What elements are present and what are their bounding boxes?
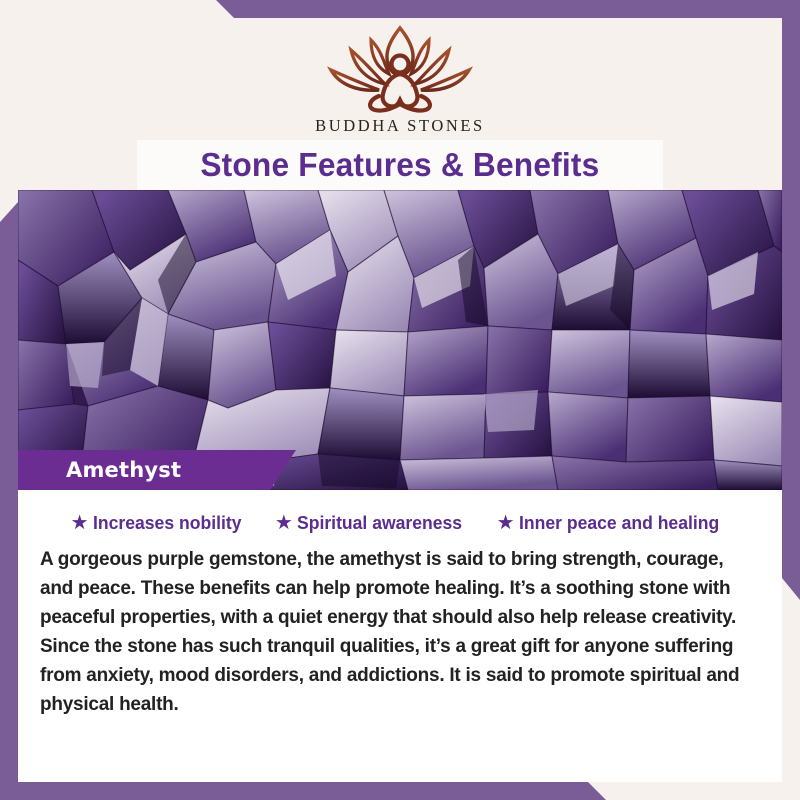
lotus-meditation-figure-icon (307, 22, 493, 114)
benefit-label: Spiritual awareness (297, 512, 462, 534)
page-title: Stone Features & Benefits (200, 146, 599, 184)
frame-right-accent (782, 0, 800, 600)
poster-content: ★ Increases nobility ★ Spiritual awarene… (18, 490, 782, 782)
amethyst-photo (18, 190, 782, 490)
benefit-label: Inner peace and healing (519, 512, 719, 534)
stone-name-banner: Amethyst (18, 450, 296, 490)
brand-logo: BUDDHA STONES (0, 22, 800, 136)
star-icon: ★ (497, 513, 515, 533)
amethyst-crystal-cluster-illustration (18, 190, 782, 490)
benefit-item: ★ Inner peace and healing (497, 512, 730, 534)
benefit-label: Increases nobility (93, 512, 241, 534)
benefit-item: ★ Spiritual awareness (275, 512, 471, 534)
frame-left-accent (0, 202, 18, 800)
frame-bottom-accent (0, 782, 800, 800)
stone-name: Amethyst (66, 458, 181, 482)
brand-name: BUDDHA STONES (0, 116, 800, 136)
benefits-list: ★ Increases nobility ★ Spiritual awarene… (18, 490, 782, 534)
star-icon: ★ (275, 513, 293, 533)
benefit-item: ★ Increases nobility (71, 512, 249, 534)
title-banner: Stone Features & Benefits (137, 140, 663, 190)
star-icon: ★ (71, 513, 89, 533)
stone-description: A gorgeous purple gemstone, the amethyst… (40, 545, 749, 719)
stone-info-poster: BUDDHA STONES Stone Features & Benefits (0, 0, 800, 800)
